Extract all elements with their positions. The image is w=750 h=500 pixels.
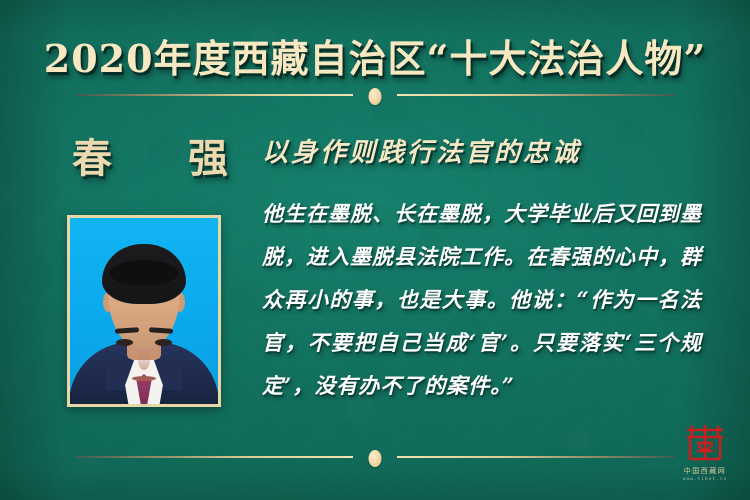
divider-bar-left <box>75 94 353 96</box>
divider-dot-icon <box>369 450 382 467</box>
award-poster: 2020年度西藏自治区“十大法治人物” 春 强 以身作则践行法官的忠诚 <box>0 0 750 500</box>
page-title: 2020年度西藏自治区“十大法治人物” <box>0 28 750 83</box>
portrait-nose <box>138 350 150 370</box>
divider-bar-left <box>75 456 353 458</box>
honoree-biography: 他生在墨脱、长在墨脱，大学毕业后又回到墨脱，进入墨脱县法院工作。在春强的心中，群… <box>262 192 702 407</box>
divider-bar-right <box>397 456 675 458</box>
portrait-hair <box>102 244 186 304</box>
honoree-motto: 以身作则践行法官的忠诚 <box>262 132 581 169</box>
ornamental-divider-top <box>0 88 750 102</box>
portrait-eye-right <box>155 339 172 346</box>
portrait-eyebrow-right <box>149 327 173 334</box>
brand-name: 中国西藏网 <box>672 466 738 476</box>
ornamental-divider-bottom <box>0 450 750 464</box>
divider-bar-right <box>397 94 675 96</box>
portrait-mouth <box>132 376 156 381</box>
honoree-portrait-frame <box>67 215 221 407</box>
brand-logo[interactable]: 中国西藏网 www.tibet.cn <box>672 423 738 482</box>
portrait-eye-left <box>116 339 133 346</box>
brand-url: www.tibet.cn <box>672 477 738 482</box>
portrait-eyebrow-left <box>115 327 139 334</box>
divider-dot-icon <box>369 88 382 105</box>
honoree-portrait-photo <box>70 218 218 404</box>
seal-logo-icon <box>683 423 727 463</box>
honoree-name: 春 强 <box>50 126 250 184</box>
